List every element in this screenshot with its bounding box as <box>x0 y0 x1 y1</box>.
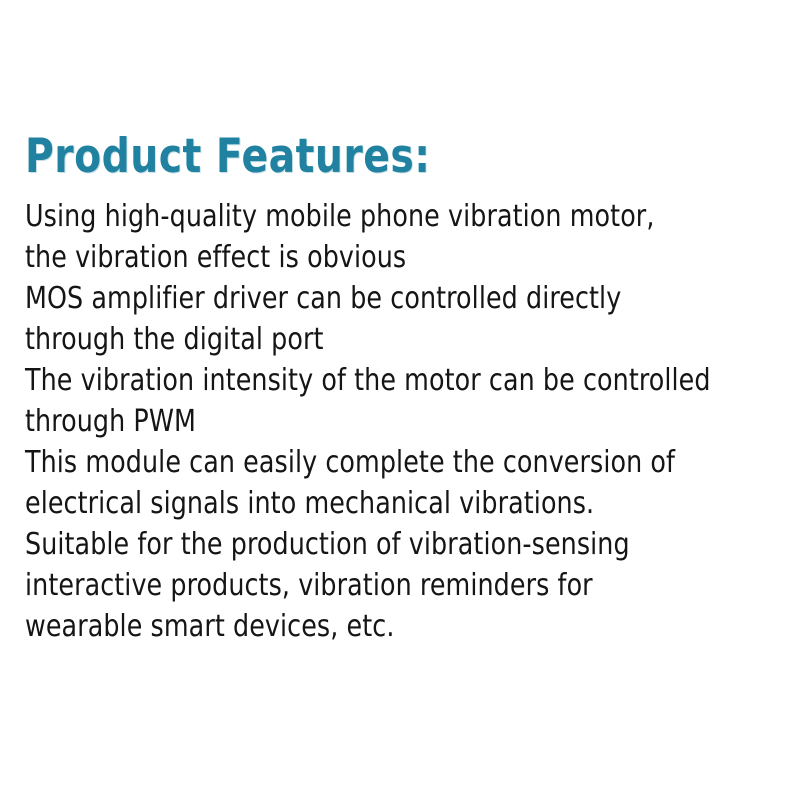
feature-line: Suitable for the production of vibration… <box>25 524 739 565</box>
feature-line: interactive products, vibration reminder… <box>25 565 739 606</box>
feature-line: through PWM <box>25 401 739 442</box>
feature-line: This module can easily complete the conv… <box>25 442 739 483</box>
feature-line: wearable smart devices, etc. <box>25 606 739 647</box>
feature-line: electrical signals into mechanical vibra… <box>25 483 739 524</box>
feature-line: the vibration effect is obvious <box>25 237 739 278</box>
features-content-block: Product Features: Using high-quality mob… <box>25 132 785 647</box>
features-list: Using high-quality mobile phone vibratio… <box>25 196 785 647</box>
product-features-page: Product Features: Using high-quality mob… <box>0 0 800 800</box>
feature-line: The vibration intensity of the motor can… <box>25 360 739 401</box>
feature-line: Using high-quality mobile phone vibratio… <box>25 196 739 237</box>
feature-line: through the digital port <box>25 319 739 360</box>
page-title: Product Features: <box>25 132 732 182</box>
feature-line: MOS amplifier driver can be controlled d… <box>25 278 739 319</box>
